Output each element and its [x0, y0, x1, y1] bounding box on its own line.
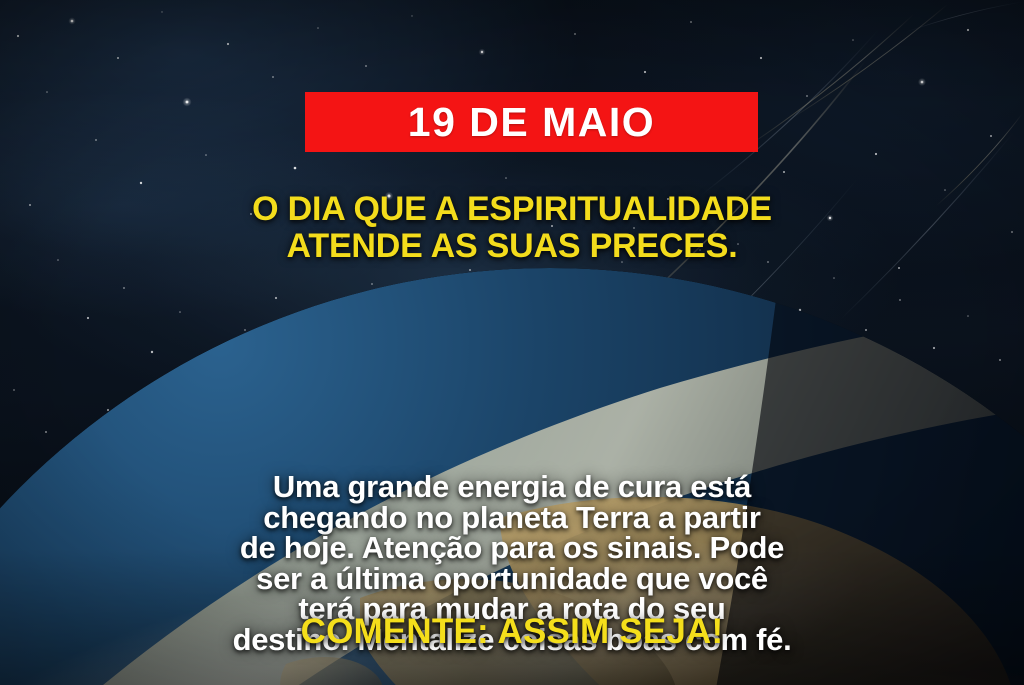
headline-text: O DIA QUE A ESPIRITUALIDADE ATENDE AS SU…: [0, 191, 1024, 265]
date-banner-label: 19 DE MAIO: [408, 102, 655, 143]
poster-content: 19 DE MAIO O DIA QUE A ESPIRITUALIDADE A…: [0, 0, 1024, 685]
poster-root: 19 DE MAIO O DIA QUE A ESPIRITUALIDADE A…: [0, 0, 1024, 685]
call-to-action-text: COMENTE: ASSIM SEJA!: [0, 612, 1024, 652]
date-banner: 19 DE MAIO: [305, 92, 758, 152]
